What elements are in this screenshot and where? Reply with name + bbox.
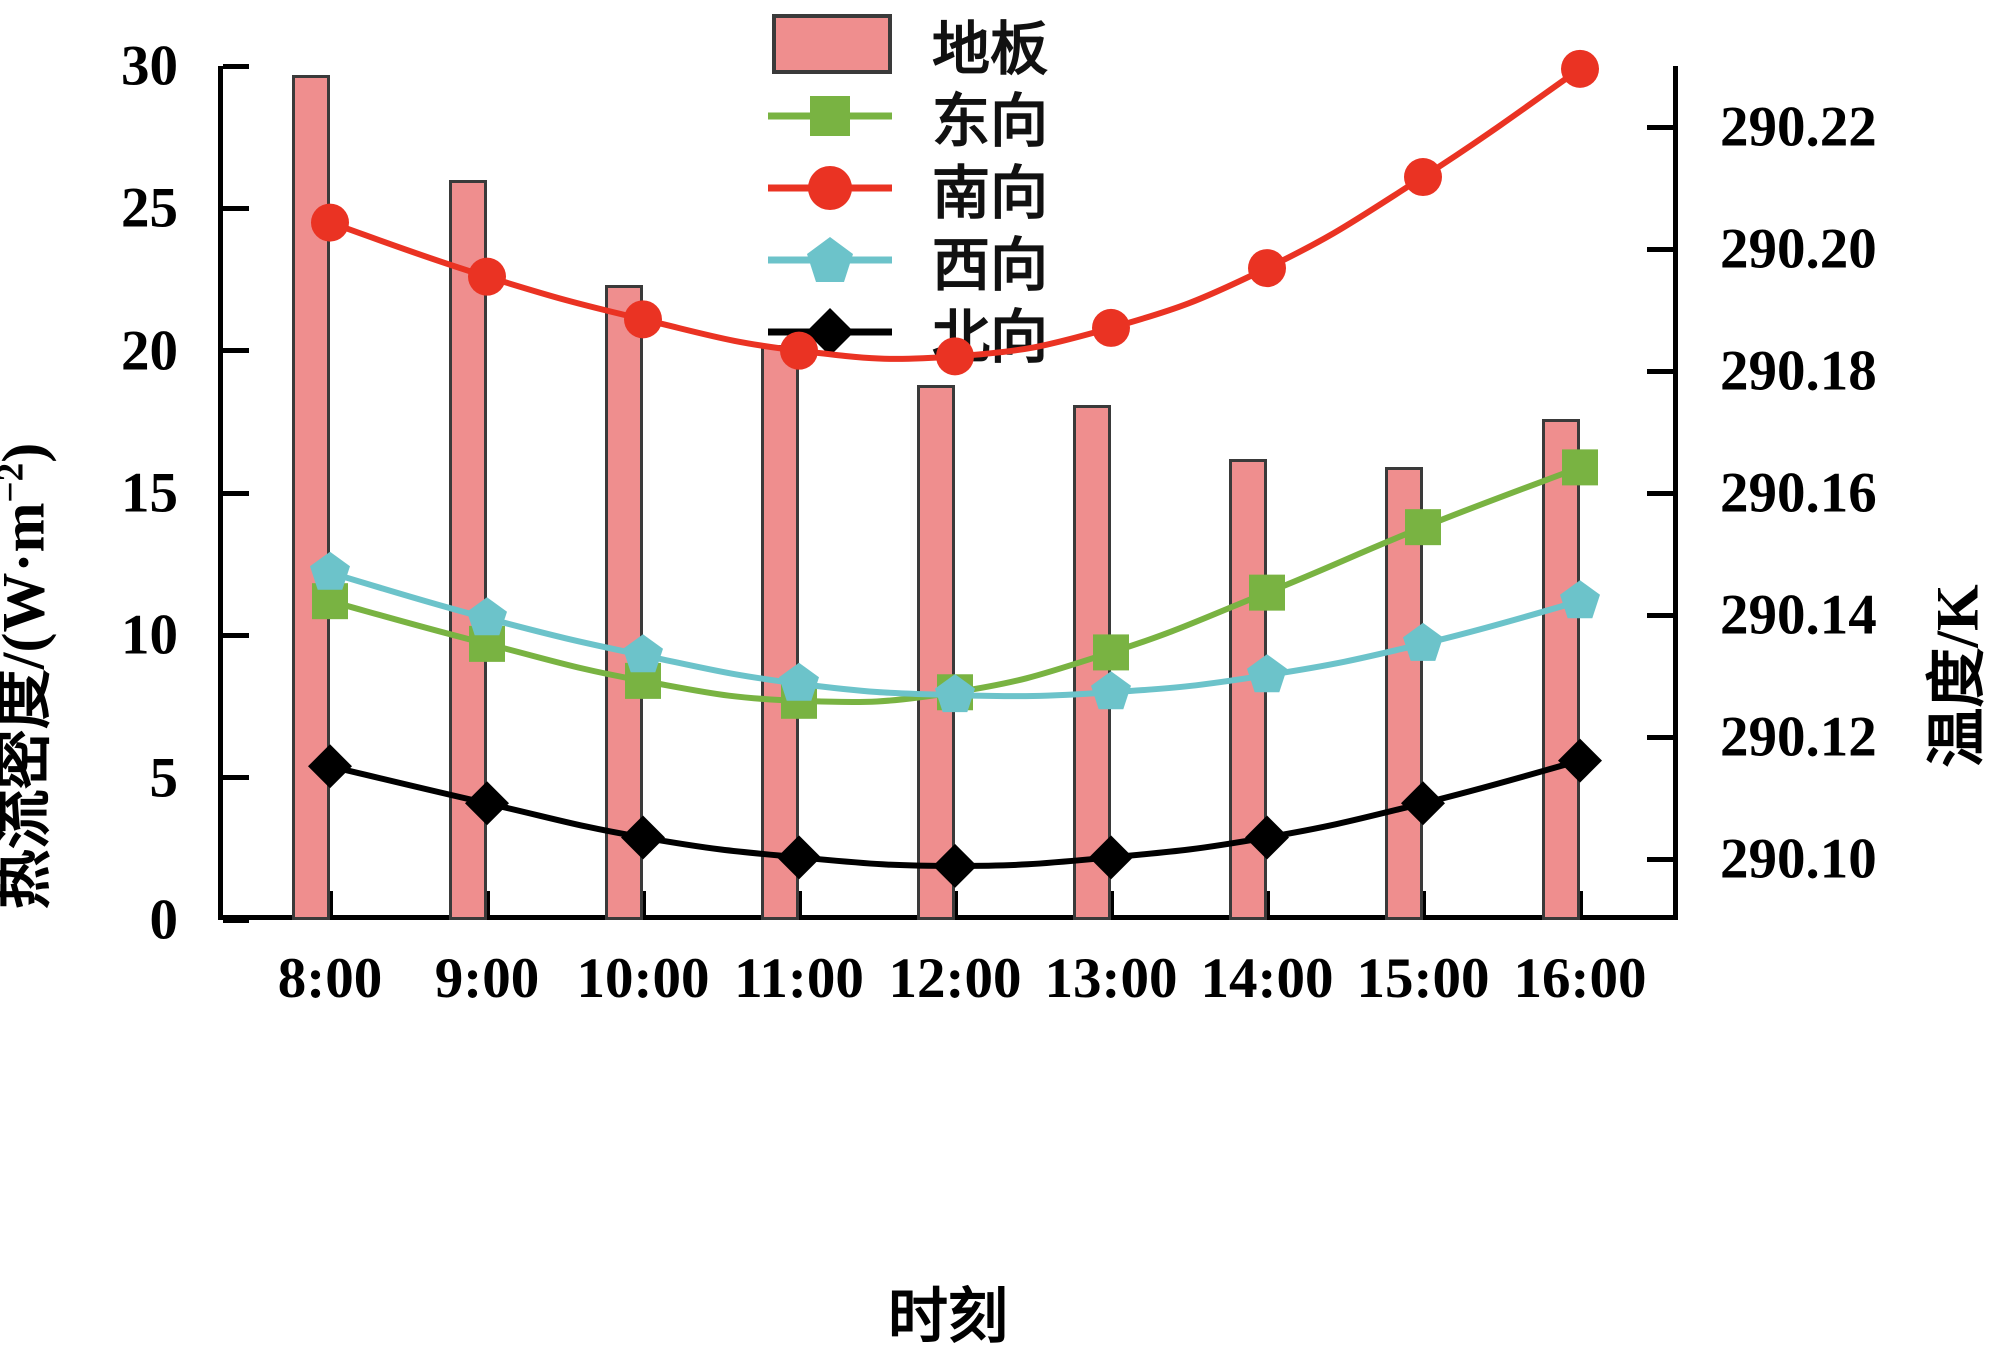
y-axis-left-title-exponent: −2 <box>0 462 32 502</box>
x-tick-label: 10:00 <box>577 946 710 1011</box>
data-point-marker <box>621 815 665 859</box>
y-axis-left-title-tail: ) <box>0 442 57 462</box>
y-axis-right-title: 温度/K <box>1909 584 1996 767</box>
data-point-marker <box>468 258 506 296</box>
y-tick-label-left: 15 <box>121 461 178 526</box>
data-point-marker <box>1091 671 1131 709</box>
series-line <box>330 467 1580 702</box>
chart-figure: 热流密度/(W·m−2) 温度/K 时刻 地板 东向 <box>0 0 2008 1351</box>
y-tick-label-left: 0 <box>150 888 179 953</box>
data-point-marker <box>1405 509 1441 545</box>
bar-swatch-icon <box>772 14 892 74</box>
y-tick-label-left: 30 <box>121 34 178 99</box>
data-point-marker <box>780 332 818 370</box>
legend-key-floor <box>760 14 900 74</box>
x-tick-label: 12:00 <box>889 946 1022 1011</box>
data-point-marker <box>624 300 662 338</box>
x-tick-label: 11:00 <box>734 946 864 1011</box>
x-axis-title: 时刻 <box>888 1268 1008 1355</box>
x-tick-label: 16:00 <box>1514 946 1647 1011</box>
line-series <box>311 50 1599 376</box>
plot-area: 051015202530 290.10290.12290.14290.16290… <box>218 66 1678 920</box>
data-point-marker <box>1561 50 1599 88</box>
data-point-marker <box>467 597 507 635</box>
data-point-marker <box>1245 815 1289 859</box>
data-point-marker <box>779 663 819 701</box>
data-point-marker <box>311 204 349 242</box>
data-point-marker <box>1249 575 1285 611</box>
data-point-marker <box>1092 309 1130 347</box>
y-tick-label-left: 20 <box>121 318 178 383</box>
y-tick-label-right: 290.20 <box>1720 217 1877 282</box>
data-point-marker <box>1089 835 1133 879</box>
data-point-marker <box>1401 781 1445 825</box>
data-point-marker <box>1247 654 1287 692</box>
data-point-marker <box>936 337 974 375</box>
line-series-group <box>218 66 1678 920</box>
y-tick-label-right: 290.16 <box>1720 461 1877 526</box>
data-point-marker <box>465 781 509 825</box>
x-tick-label: 8:00 <box>278 946 382 1011</box>
y-tick-label-right: 290.14 <box>1720 583 1877 648</box>
series-line <box>330 69 1580 359</box>
y-tick-label-left: 5 <box>150 745 179 810</box>
data-point-marker <box>308 744 352 788</box>
data-point-marker <box>310 552 350 590</box>
y-tick-label-left: 10 <box>121 603 178 668</box>
y-tick-label-right: 290.22 <box>1720 95 1877 160</box>
data-point-marker <box>1248 249 1286 287</box>
data-point-marker <box>1560 580 1600 618</box>
x-tick-label: 9:00 <box>435 946 539 1011</box>
data-point-marker <box>1093 634 1129 670</box>
x-tick-label: 13:00 <box>1045 946 1178 1011</box>
data-point-marker <box>1562 449 1598 485</box>
data-point-marker <box>777 835 821 879</box>
y-tick-label-right: 290.12 <box>1720 705 1877 770</box>
data-point-marker <box>1403 623 1443 661</box>
y-tick-label-right: 290.10 <box>1720 827 1877 892</box>
data-point-marker <box>623 634 663 672</box>
y-axis-left-title-main: 热流密度/(W·m <box>0 502 57 909</box>
y-tick-label-right: 290.18 <box>1720 339 1877 404</box>
y-tick-label-left: 25 <box>121 176 178 241</box>
y-axis-left-title: 热流密度/(W·m−2) <box>0 442 62 908</box>
line-series <box>308 739 1602 888</box>
x-tick-label: 15:00 <box>1357 946 1490 1011</box>
data-point-marker <box>1558 739 1602 783</box>
data-point-marker <box>1404 158 1442 196</box>
data-point-marker <box>933 844 977 888</box>
x-tick-label: 14:00 <box>1201 946 1334 1011</box>
